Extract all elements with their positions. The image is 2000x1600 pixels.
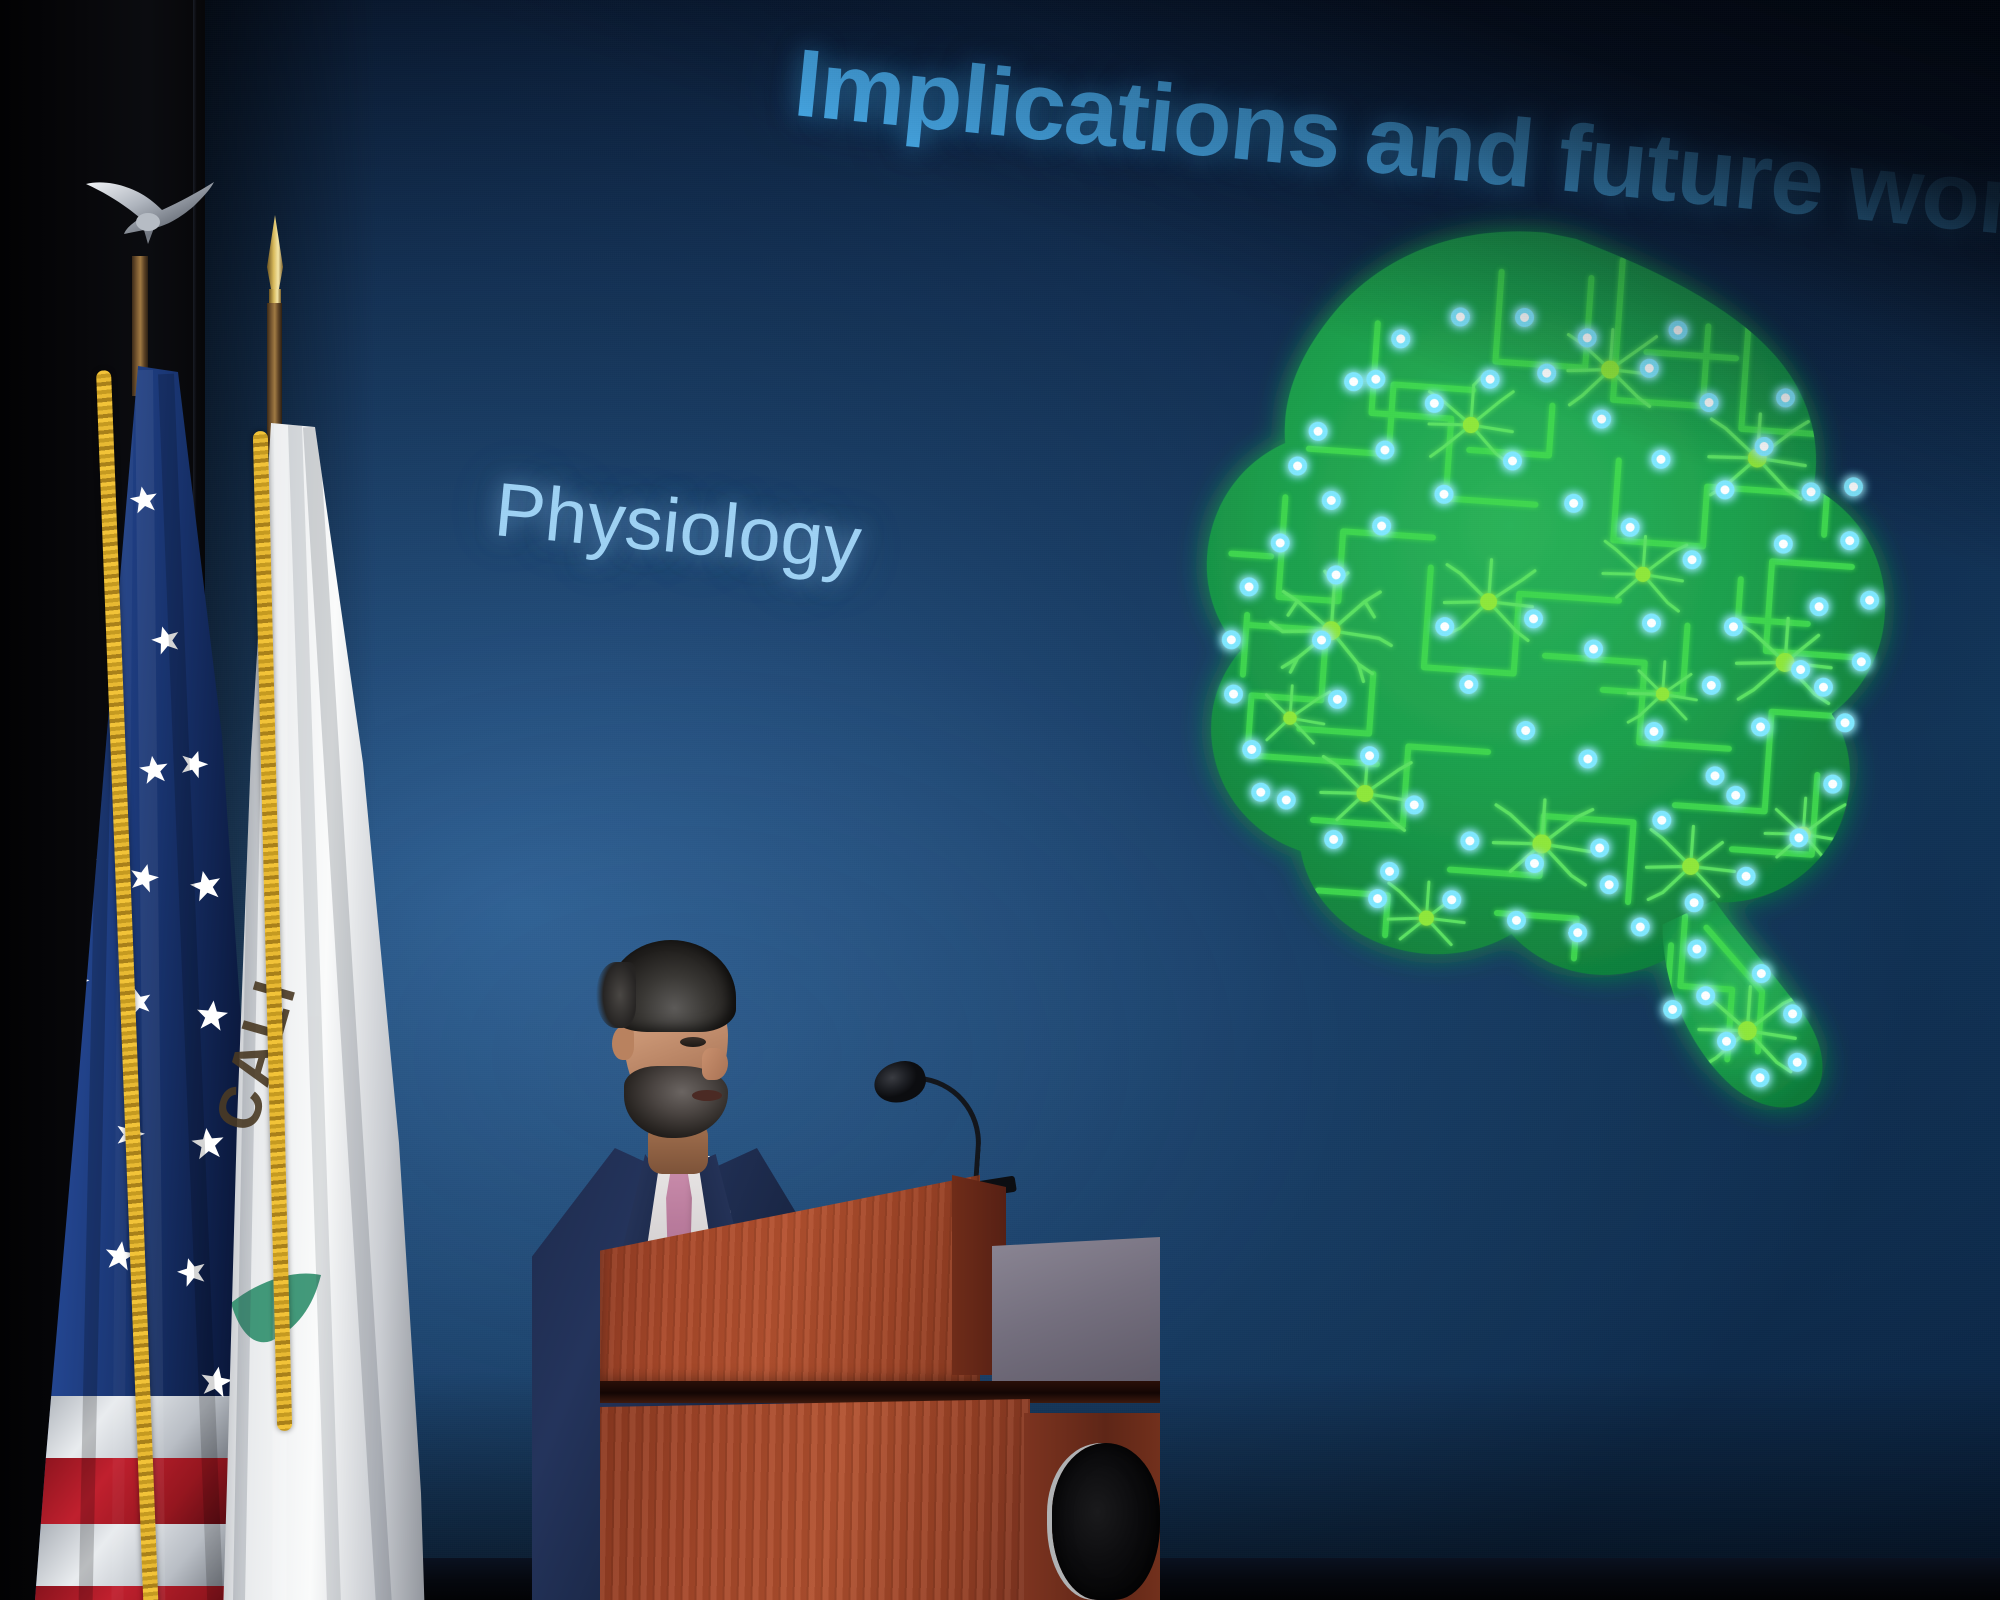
podium-side-panel bbox=[992, 1237, 1160, 1387]
stage-photo: Implications and future work Physiology bbox=[0, 0, 2000, 1600]
eye bbox=[680, 1037, 706, 1047]
podium-lectern bbox=[600, 1175, 1160, 1600]
eagle-finial-icon bbox=[82, 170, 216, 262]
mouth bbox=[692, 1090, 722, 1101]
podium-top-face bbox=[600, 1175, 980, 1385]
slide-subtitle: Physiology bbox=[491, 466, 865, 587]
podium-seam bbox=[600, 1381, 1160, 1403]
circuit-brain-illustration bbox=[1095, 187, 1974, 1122]
podium-base-front bbox=[600, 1399, 1030, 1600]
california-state-flag: CALIF bbox=[225, 215, 450, 1600]
hair bbox=[608, 940, 736, 1032]
podium-speaker-grille bbox=[1052, 1443, 1160, 1600]
ear bbox=[612, 1026, 634, 1060]
spear-finial-icon bbox=[255, 215, 295, 311]
nose bbox=[702, 1048, 728, 1080]
